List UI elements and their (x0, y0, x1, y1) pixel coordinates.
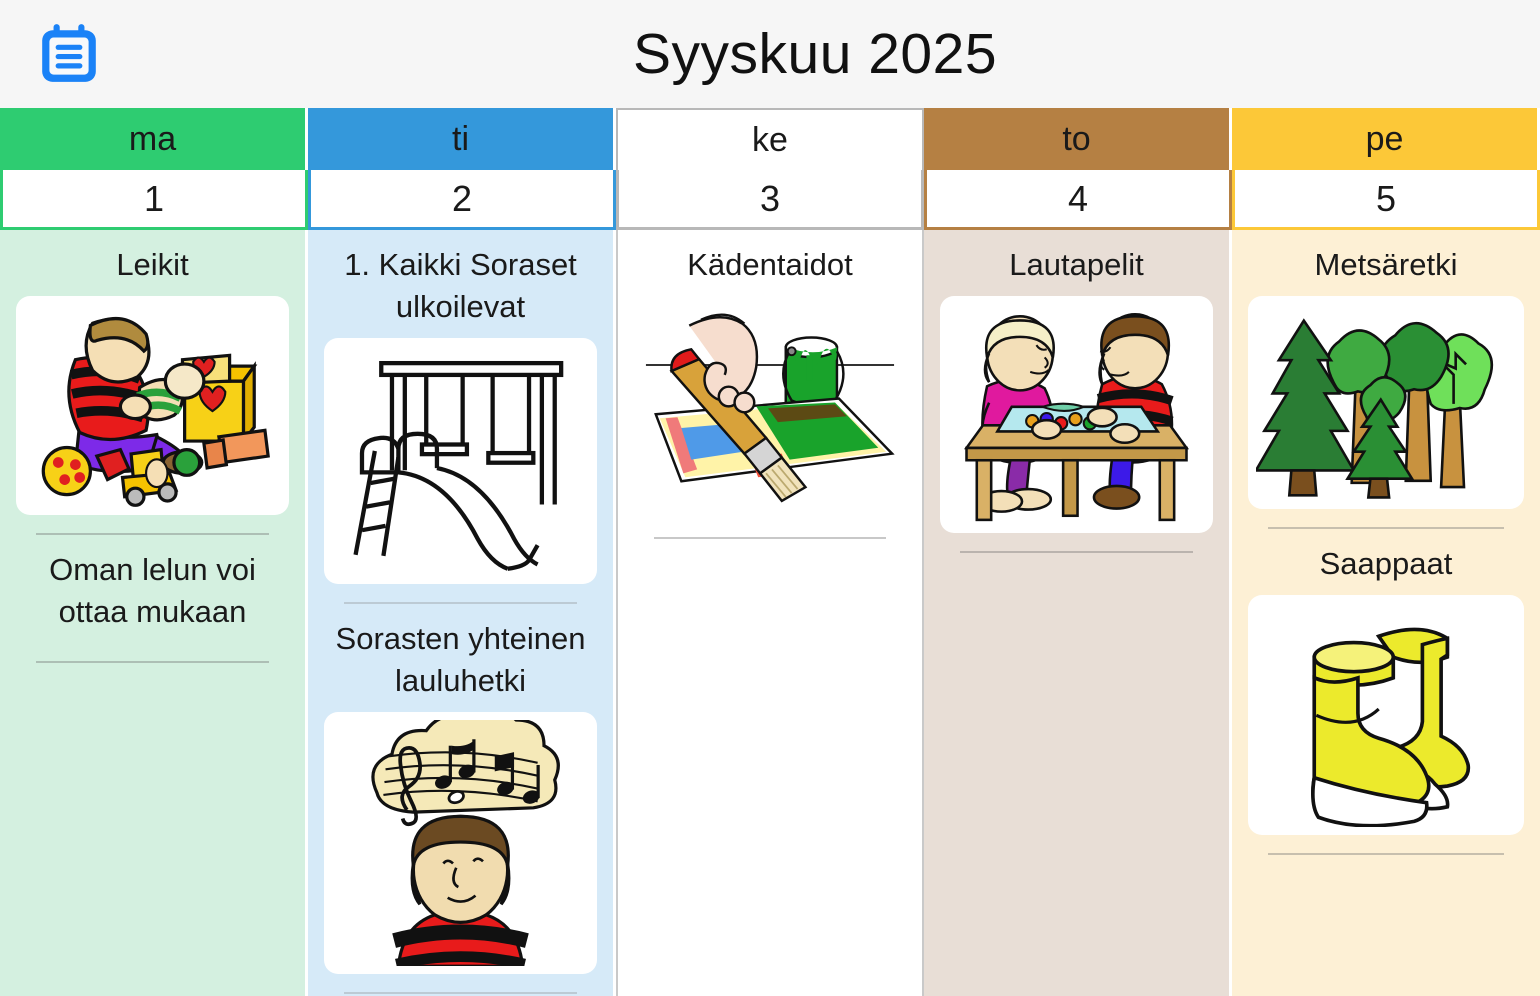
event-title: Saappaat (1246, 529, 1526, 595)
day-header-ma[interactable]: ma (0, 108, 308, 170)
event-divider (960, 551, 1193, 553)
app-header: Syyskuu 2025 (0, 0, 1540, 108)
day-header-pe[interactable]: pe (1232, 108, 1540, 170)
event-image-card[interactable] (324, 338, 597, 584)
event-title: Sorasten yhteinen lauluhetki (322, 604, 599, 712)
date-cell-1[interactable]: 1 (0, 170, 308, 230)
calendar-grid: ma ti ke to pe 1 2 3 4 5 Leikit (0, 108, 1540, 996)
event-divider (344, 992, 577, 994)
day-column-ke: Kädentaidot (616, 230, 924, 996)
date-number: 2 (452, 178, 472, 220)
event-title: Lautapelit (938, 230, 1215, 296)
date-number: 1 (144, 178, 164, 220)
day-header-ti[interactable]: ti (308, 108, 616, 170)
day-header-label: ma (129, 120, 176, 159)
event-title: Metsäretki (1246, 230, 1526, 296)
day-column-ma: Leikit (0, 230, 308, 996)
day-header-to[interactable]: to (924, 108, 1232, 170)
yellow-rubber-boots-image (1256, 603, 1516, 827)
event-title: Kädentaidot (632, 230, 908, 296)
event-title: 1. Kaikki Soraset ulkoilevat (322, 230, 599, 338)
event-image-card[interactable] (324, 712, 597, 974)
date-cell-4[interactable]: 4 (924, 170, 1232, 230)
forest-trees-image (1256, 304, 1516, 502)
event-title: Oman lelun voi ottaa mukaan (14, 535, 291, 643)
day-header-label: ke (752, 121, 788, 160)
event-image-card[interactable] (16, 296, 289, 515)
two-children-playing-board-game-image (948, 304, 1205, 525)
event-title: Leikit (14, 230, 291, 296)
event-divider (654, 537, 886, 539)
event-image-card[interactable] (940, 296, 1213, 533)
date-number: 5 (1376, 178, 1396, 220)
event-divider (36, 661, 269, 663)
event-image-card[interactable] (634, 296, 906, 519)
date-number: 3 (760, 178, 780, 220)
event-image-card[interactable] (1248, 595, 1524, 835)
day-header-label: pe (1366, 120, 1404, 159)
date-cell-2[interactable]: 2 (308, 170, 616, 230)
day-header-label: ti (452, 120, 469, 159)
day-header-ke[interactable]: ke (616, 108, 924, 170)
event-image-card[interactable] (1248, 296, 1524, 510)
hand-painting-with-brush-image (642, 304, 898, 511)
date-cell-5[interactable]: 5 (1232, 170, 1540, 230)
event-divider (1268, 853, 1504, 855)
day-header-label: to (1062, 120, 1090, 159)
date-number: 4 (1068, 178, 1088, 220)
child-playing-with-toys-image (24, 304, 281, 507)
day-column-ti: 1. Kaikki Soraset ulkoilevat (308, 230, 616, 996)
day-column-pe: Metsäretki (1232, 230, 1540, 996)
day-column-to: Lautapelit (924, 230, 1232, 996)
child-with-music-thought-bubble-image (332, 720, 589, 966)
date-cell-3[interactable]: 3 (616, 170, 924, 230)
playground-swings-and-slide-image (332, 346, 589, 576)
page-title: Syyskuu 2025 (0, 21, 1540, 87)
